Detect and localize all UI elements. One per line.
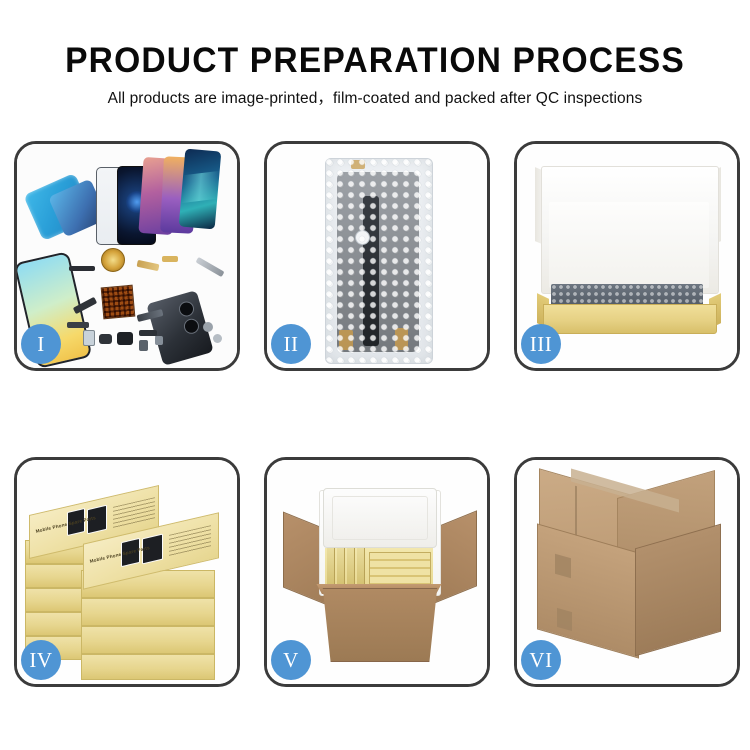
step-badge-6: VI [521, 640, 561, 680]
step-badge-4: IV [21, 640, 61, 680]
small-part-icon [99, 334, 112, 344]
step-badge-5: V [271, 640, 311, 680]
small-part-icon [155, 336, 163, 345]
speaker-coil-icon [101, 248, 125, 272]
small-part-icon [83, 330, 95, 346]
foam-sheet [549, 202, 709, 288]
page-subtitle: All products are image-printed，film-coat… [0, 78, 750, 107]
carton-tape-tab [555, 554, 571, 579]
retail-box [81, 598, 215, 626]
carton-side-face [635, 524, 721, 657]
flex-cable-icon [139, 330, 157, 336]
box-front-panel [543, 304, 717, 334]
screw-icon [203, 322, 213, 332]
process-step-panel-6[interactable]: VI [514, 457, 740, 687]
process-step-panel-3[interactable]: III [514, 141, 740, 371]
step-badge-3: III [521, 324, 561, 364]
flex-cable-icon [137, 260, 160, 271]
process-step-grid: I II [14, 141, 740, 687]
chip-grid-icon [101, 285, 136, 320]
step-badge-1: I [21, 324, 61, 364]
teal-phone-icon [179, 149, 222, 230]
carton-tape-tab [557, 608, 572, 631]
flex-cable-icon [69, 266, 95, 271]
flex-cable-icon [67, 322, 89, 328]
process-step-panel-1[interactable]: I [14, 141, 240, 371]
carton-front-panel [315, 588, 445, 662]
retail-box [81, 626, 215, 654]
small-part-icon [117, 332, 133, 345]
step-badge-2: II [271, 324, 311, 364]
screwdriver-icon [196, 257, 225, 277]
flex-cable-icon [162, 256, 178, 262]
header: PRODUCT PREPARATION PROCESS All products… [0, 0, 750, 107]
foam-box-lid [323, 488, 437, 548]
camera-lens-icon [177, 300, 196, 319]
connector-icon [395, 328, 408, 350]
flex-strip [363, 196, 379, 346]
camera-lens-icon [182, 317, 201, 336]
screw-icon [213, 334, 222, 343]
small-part-icon [139, 340, 148, 351]
page-title: PRODUCT PREPARATION PROCESS [15, 0, 735, 78]
retail-box [81, 654, 215, 680]
camera-hole-icon [355, 230, 370, 245]
process-step-panel-4[interactable]: Mobile Phone Spare Parts Mobile Phone Sp… [14, 457, 240, 687]
connector-icon [339, 330, 353, 350]
process-step-panel-5[interactable]: V [264, 457, 490, 687]
product-preparation-process-page: PRODUCT PREPARATION PROCESS All products… [0, 0, 750, 750]
tape-tab-icon [351, 160, 365, 169]
process-step-panel-2[interactable]: II [264, 141, 490, 371]
